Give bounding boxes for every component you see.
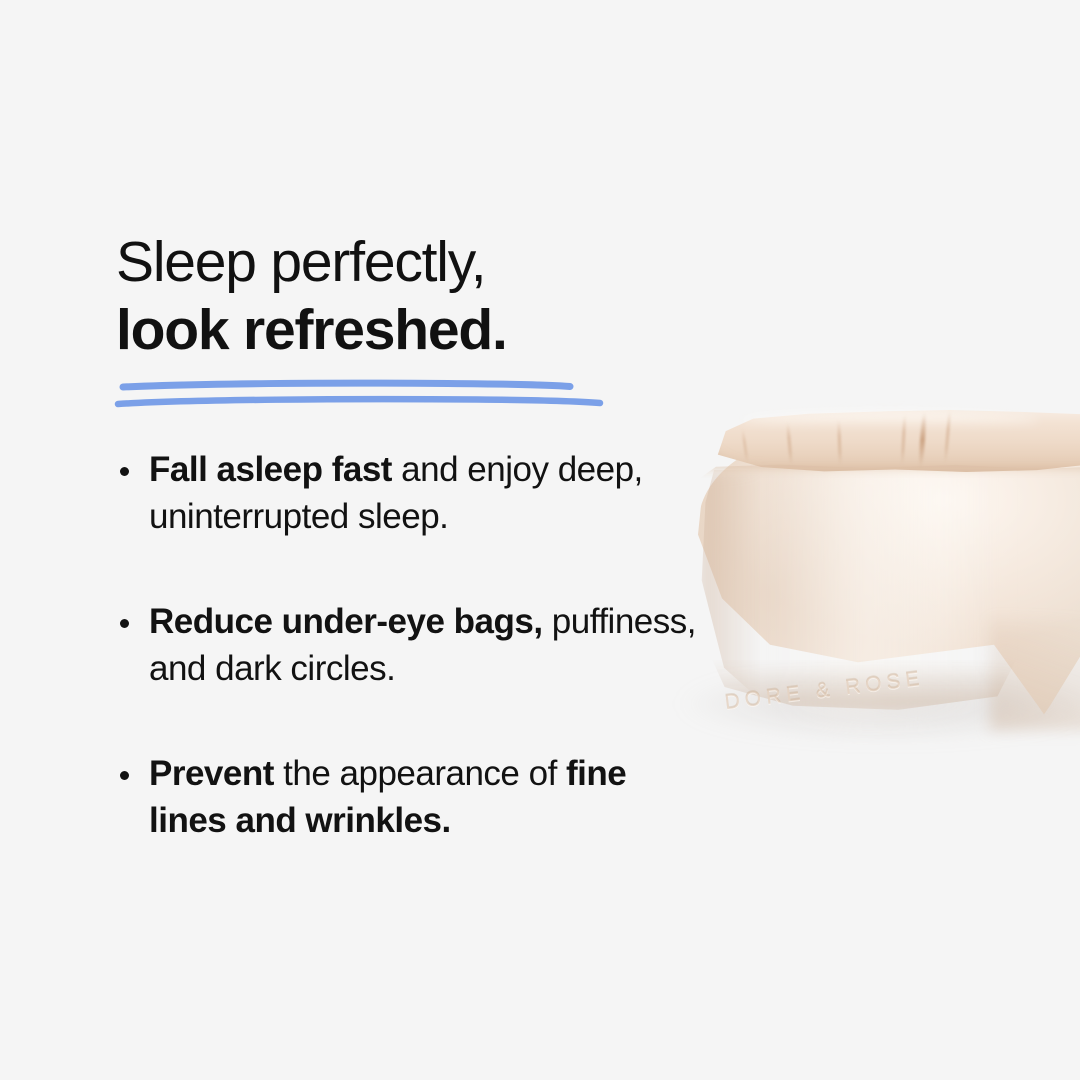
list-item: Prevent the appearance of fine lines and… [116, 750, 696, 844]
headline-underline-decoration [118, 376, 618, 420]
bullet-bold-lead: Fall asleep fast [149, 450, 392, 489]
promo-graphic: DORE & ROSE Sleep perfectly, look refres… [0, 0, 1080, 1080]
headline-line-2: look refreshed. [116, 296, 696, 364]
text-column: Sleep perfectly, look refreshed. Fall as… [116, 228, 696, 844]
bolster-highlight [740, 412, 1040, 428]
list-item: Fall asleep fast and enjoy deep, uninter… [116, 446, 696, 540]
page-title: Sleep perfectly, look refreshed. [116, 228, 696, 364]
headline-line-1: Sleep perfectly, [116, 228, 696, 296]
nose-notch-shading [990, 620, 1080, 730]
bullet-bold-lead: Prevent [149, 754, 274, 793]
bullet-body-text: the appearance of [274, 754, 566, 793]
list-item: Reduce under-eye bags, puffiness, and da… [116, 598, 696, 692]
bullet-bold-lead: Reduce under-eye bags, [149, 602, 543, 641]
benefits-list: Fall asleep fast and enjoy deep, uninter… [116, 446, 696, 844]
blue-double-underline-icon [118, 376, 618, 420]
